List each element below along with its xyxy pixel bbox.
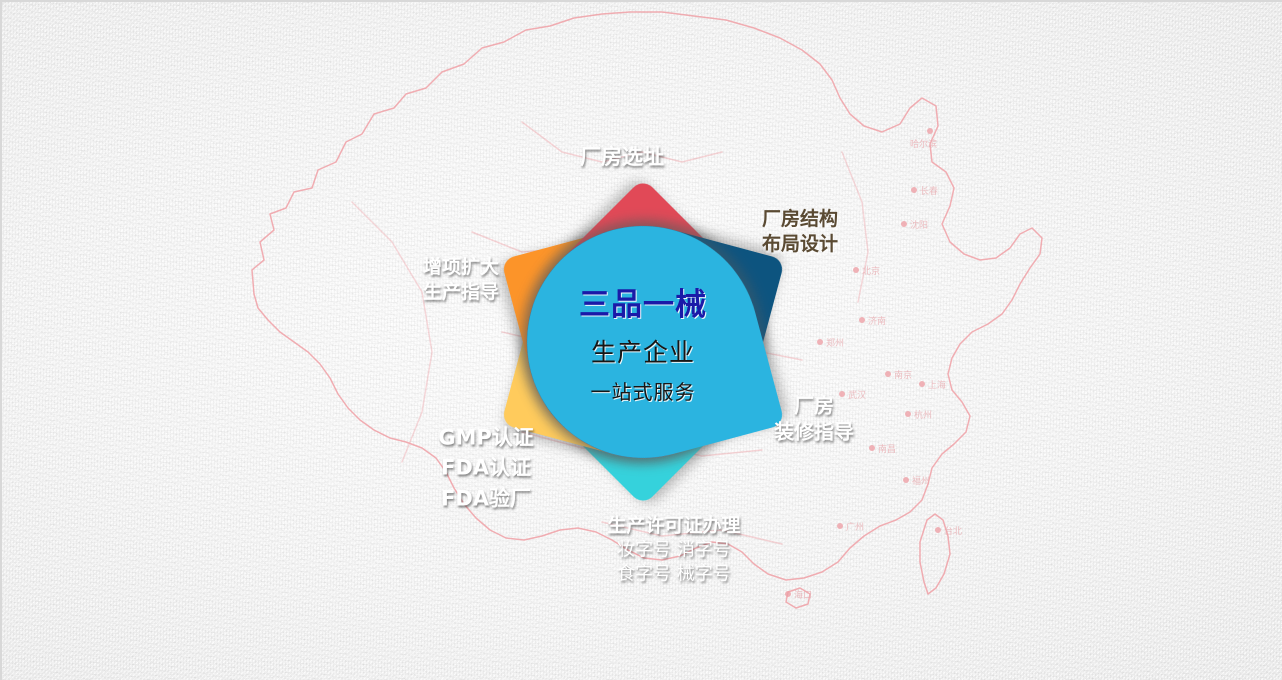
service-petal-diagram: 三品一械 生产企业 一站式服务: [343, 42, 943, 642]
map-label: 台北: [944, 524, 962, 537]
diagram-canvas: 哈尔滨 长春 沈阳 北京 济南 郑州 南京 上海 武汉 杭州 南昌 福州 广州 …: [0, 0, 1282, 680]
center-subtitle-primary: 生产企业: [591, 333, 695, 369]
center-title: 三品一械: [579, 279, 707, 324]
center-hub: 三品一械 生产企业 一站式服务: [525, 224, 761, 460]
center-subtitle-secondary: 一站式服务: [591, 376, 696, 405]
